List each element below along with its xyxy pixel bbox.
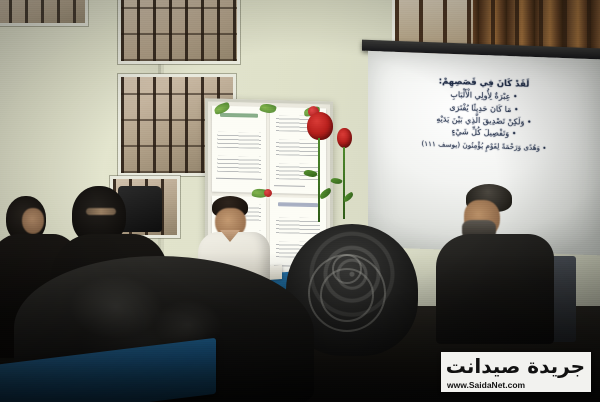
window-bars-horizontal	[121, 0, 237, 61]
board-paper	[212, 106, 266, 193]
rose-leaf	[318, 187, 333, 199]
paper-text-block	[217, 156, 260, 173]
paper-heading	[220, 113, 259, 118]
niqab-eye-slit	[86, 208, 116, 215]
lace-pattern	[308, 254, 386, 332]
rose-leaf	[303, 168, 318, 180]
photograph: لَقَدْ كَانَ فِي قَصَصِهِمْ: • عِبْرَةٌ …	[0, 0, 600, 402]
paper-rule	[274, 185, 304, 187]
rose-bloom	[337, 128, 352, 148]
window-far-left	[0, 0, 88, 26]
rose-bloom	[307, 112, 333, 140]
window-bars-vertical	[0, 0, 85, 23]
window-left-top	[118, 0, 240, 64]
rose-decal-small-icon	[334, 128, 360, 220]
dark-jacket	[436, 234, 554, 344]
watermark-arabic-title: جريدة صيدانت	[446, 354, 585, 378]
slide-text: لَقَدْ كَانَ فِي قَصَصِهِمْ: • عِبْرَةٌ …	[382, 73, 586, 154]
face	[22, 208, 44, 234]
rose-stem	[318, 138, 320, 222]
rose-stem	[343, 147, 345, 219]
paper-text-block	[217, 132, 260, 149]
watermark-url: www.SaidaNet.com	[447, 380, 525, 390]
presenter-bearded-man	[438, 184, 556, 344]
watermark: جريدة صيدانت www.SaidaNet.com	[441, 352, 591, 392]
paper-rule	[216, 178, 261, 180]
